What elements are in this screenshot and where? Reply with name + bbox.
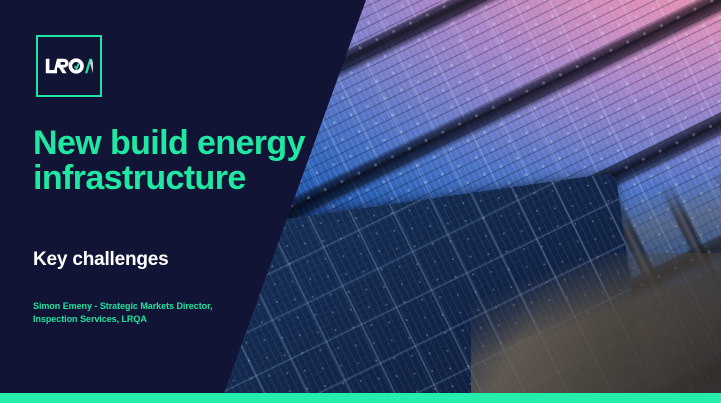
presenter-byline: Simon Emeny - Strategic Markets Director…	[33, 300, 248, 326]
solar-panel-array-photo	[0, 0, 721, 403]
page-subtitle: Key challenges	[33, 249, 169, 271]
photo-edge-vignette	[0, 0, 721, 403]
lrqa-logo-mark	[45, 57, 93, 75]
page-title: New build energy infrastructure	[33, 126, 333, 196]
lrqa-logo	[36, 35, 102, 97]
bottom-accent-bar	[0, 393, 721, 403]
title-slide: New build energy infrastructure Key chal…	[0, 0, 721, 403]
